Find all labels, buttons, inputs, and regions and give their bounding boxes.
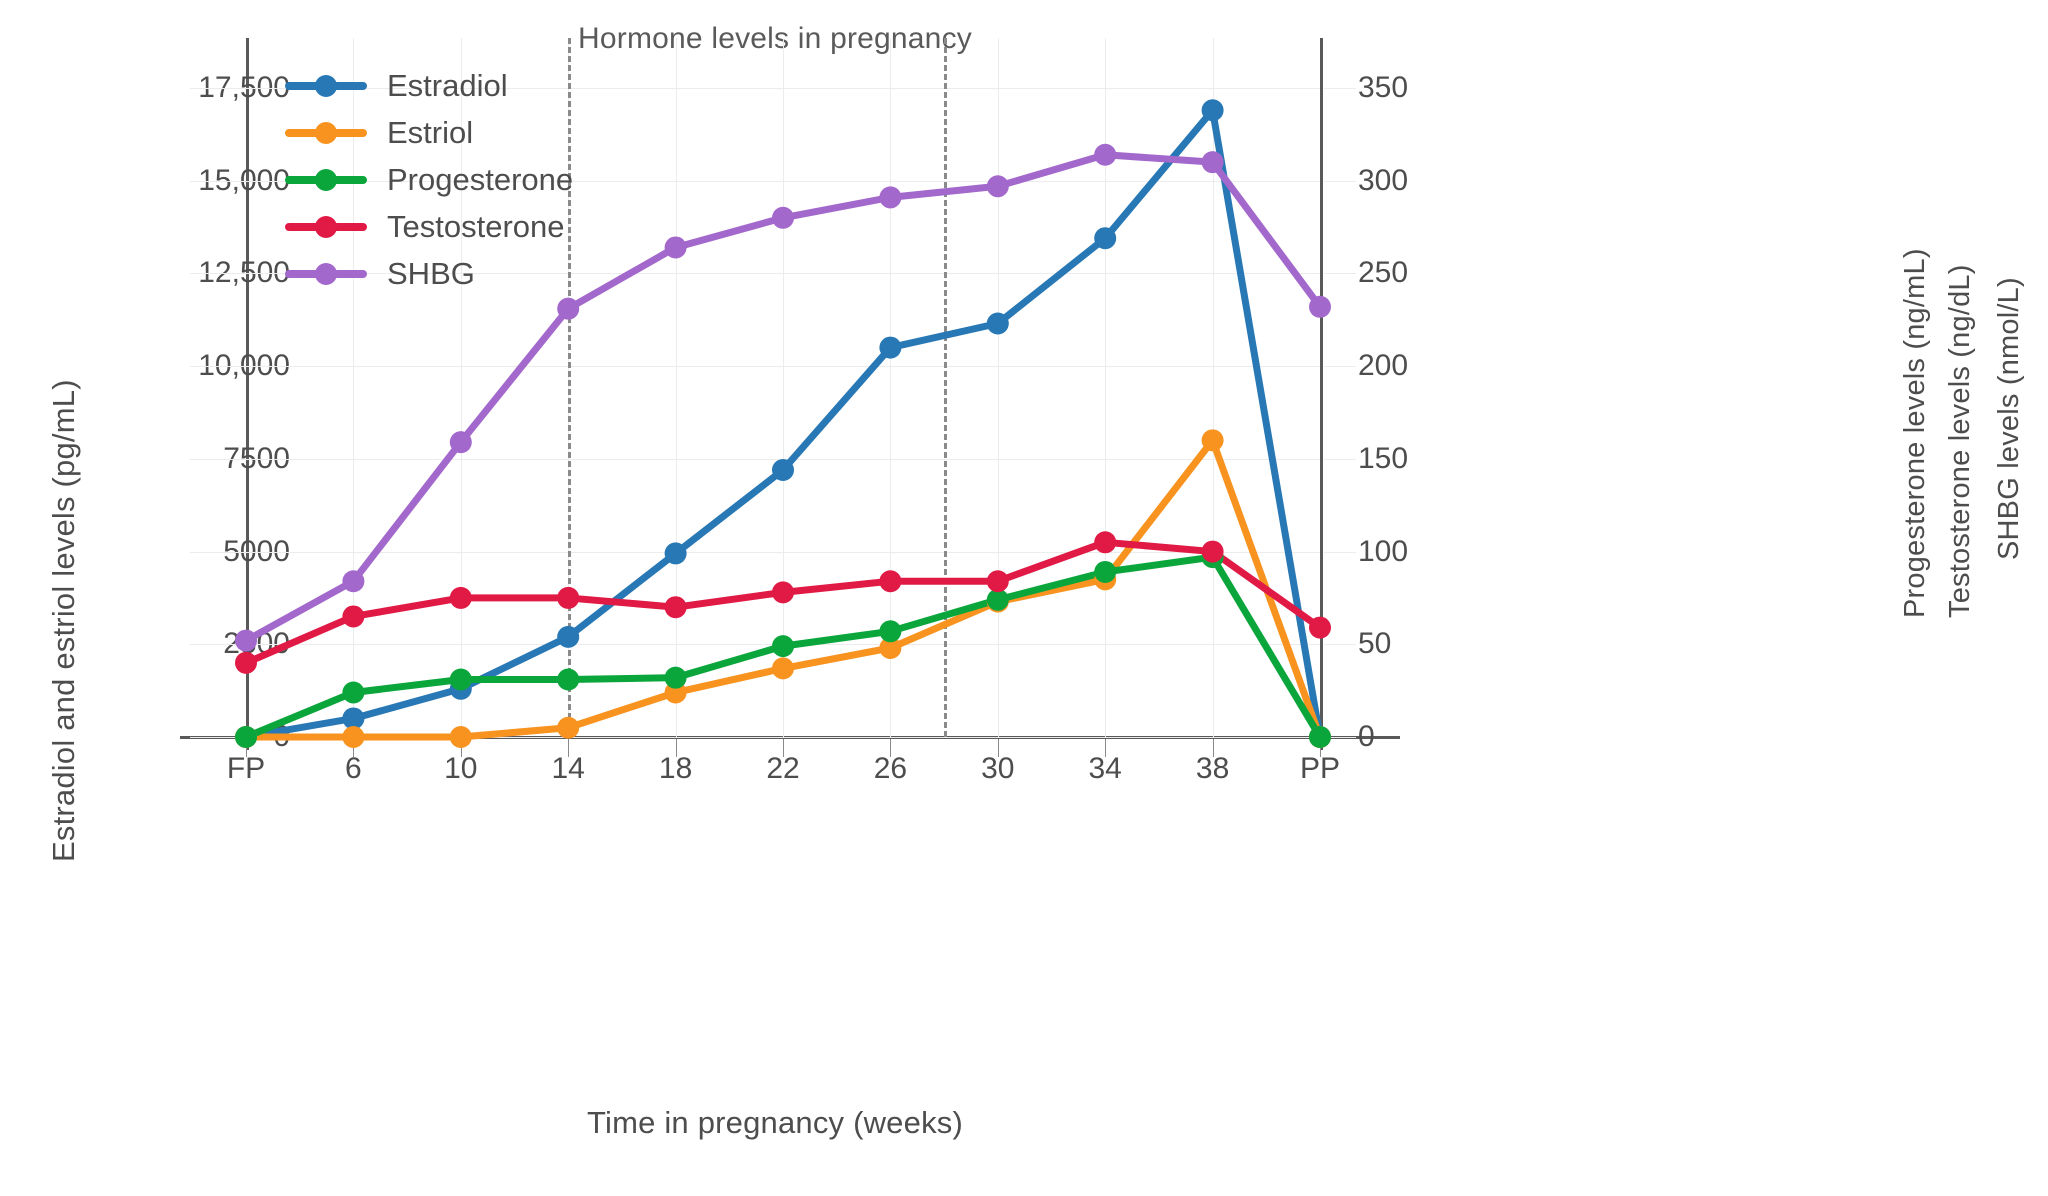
legend-item-label: Testosterone [387, 209, 565, 245]
legend-item-testosterone[interactable]: Testosterone [285, 203, 573, 250]
data-point-testosterone [879, 570, 901, 592]
legend-item-shbg[interactable]: SHBG [285, 250, 573, 297]
data-point-estradiol [557, 626, 579, 648]
legend-marker-icon [315, 263, 337, 285]
y-tick-label-right: 0 [1358, 720, 1375, 754]
legend-swatch-icon [285, 82, 367, 90]
data-point-testosterone [1094, 531, 1116, 553]
y-tick-mark-right [1324, 644, 1356, 645]
legend-swatch-icon [285, 270, 367, 278]
data-point-shbg [665, 236, 687, 258]
legend-item-estriol[interactable]: Estriol [285, 109, 573, 156]
x-tick-label: 34 [1089, 752, 1122, 786]
legend-marker-icon [315, 122, 337, 144]
x-tick-mark [676, 739, 677, 757]
x-tick-label: 6 [345, 752, 362, 786]
y-tick-mark-right [1324, 88, 1356, 89]
y-tick-label-right: 150 [1358, 442, 1408, 476]
data-point-testosterone [450, 587, 472, 609]
data-point-progesterone [879, 620, 901, 642]
legend-marker-icon [315, 216, 337, 238]
data-point-estradiol [665, 542, 687, 564]
data-point-estriol [557, 717, 579, 739]
data-point-progesterone [772, 635, 794, 657]
x-tick-mark [568, 739, 569, 757]
x-tick-label: 22 [766, 752, 799, 786]
data-point-shbg [1094, 144, 1116, 166]
x-tick-label: PP [1300, 752, 1340, 786]
x-tick-mark [890, 739, 891, 757]
data-point-testosterone [342, 605, 364, 627]
data-point-estriol [1202, 429, 1224, 451]
y-axis-right-title-progesterone: Progesterone levels (ng/mL) [1899, 248, 1932, 618]
data-point-progesterone [1309, 726, 1331, 748]
data-point-estriol [450, 726, 472, 748]
y-tick-label-right: 100 [1358, 535, 1408, 569]
data-point-testosterone [1309, 617, 1331, 639]
data-point-shbg [1309, 296, 1331, 318]
y-axis-right-title-testosterone: Testosterone levels (ng/dL) [1944, 264, 1977, 618]
data-point-progesterone [665, 667, 687, 689]
legend-swatch-icon [285, 129, 367, 137]
x-tick-mark [1105, 739, 1106, 757]
legend-marker-icon [315, 75, 337, 97]
x-tick-label: 14 [552, 752, 585, 786]
x-axis-title: Time in pregnancy (weeks) [0, 1105, 1550, 1141]
chart-legend: EstradiolEstriolProgesteroneTestosterone… [285, 62, 573, 297]
y-tick-label-right: 200 [1358, 349, 1408, 383]
y-axis-right-spine [1320, 38, 1323, 750]
y-tick-label-right: 350 [1358, 71, 1408, 105]
data-point-testosterone [665, 596, 687, 618]
y-tick-label-right: 300 [1358, 164, 1408, 198]
y-tick-label-right: 250 [1358, 256, 1408, 290]
legend-item-label: Estriol [387, 115, 473, 151]
x-tick-label: 10 [444, 752, 477, 786]
legend-swatch-icon [285, 176, 367, 184]
x-tick-mark [783, 739, 784, 757]
legend-item-label: Estradiol [387, 68, 508, 104]
y-axis-right-title-shbg: SHBG levels (nmol/L) [1993, 277, 2026, 560]
legend-item-label: Progesterone [387, 162, 573, 198]
data-point-estriol [342, 726, 364, 748]
data-point-shbg [772, 207, 794, 229]
data-point-progesterone [557, 669, 579, 691]
x-tick-label: FP [227, 752, 265, 786]
data-point-shbg [235, 630, 257, 652]
data-point-testosterone [557, 587, 579, 609]
legend-swatch-icon [285, 223, 367, 231]
y-tick-mark-right [1324, 459, 1356, 460]
chart-canvas: Hormone levels in pregnancy Estradiol an… [0, 0, 2048, 1196]
data-point-shbg [987, 175, 1009, 197]
y-tick-mark-right [1324, 552, 1356, 553]
data-point-progesterone [450, 669, 472, 691]
y-tick-label-right: 50 [1358, 627, 1391, 661]
legend-item-label: SHBG [387, 256, 475, 292]
x-tick-mark [1213, 739, 1214, 757]
data-point-testosterone [772, 581, 794, 603]
data-point-testosterone [987, 570, 1009, 592]
x-tick-label: 38 [1196, 752, 1229, 786]
y-tick-mark-right [1324, 181, 1356, 182]
data-point-estradiol [1094, 227, 1116, 249]
data-point-testosterone [235, 652, 257, 674]
data-point-estradiol [879, 337, 901, 359]
y-tick-mark-right [1324, 366, 1356, 367]
data-point-progesterone [342, 681, 364, 703]
x-tick-label: 26 [874, 752, 907, 786]
x-tick-label: 18 [659, 752, 692, 786]
legend-item-progesterone[interactable]: Progesterone [285, 156, 573, 203]
data-point-shbg [342, 570, 364, 592]
data-point-estradiol [987, 312, 1009, 334]
legend-item-estradiol[interactable]: Estradiol [285, 62, 573, 109]
data-point-progesterone [235, 726, 257, 748]
data-point-progesterone [1094, 561, 1116, 583]
data-point-estriol [772, 657, 794, 679]
data-point-testosterone [1202, 541, 1224, 563]
legend-marker-icon [315, 169, 337, 191]
data-point-estradiol [1202, 99, 1224, 121]
data-point-shbg [557, 298, 579, 320]
y-tick-mark-right [1324, 273, 1356, 274]
x-tick-mark [998, 739, 999, 757]
data-point-shbg [1202, 151, 1224, 173]
data-point-shbg [879, 186, 901, 208]
data-point-shbg [450, 431, 472, 453]
x-tick-label: 30 [981, 752, 1014, 786]
data-point-estradiol [772, 459, 794, 481]
